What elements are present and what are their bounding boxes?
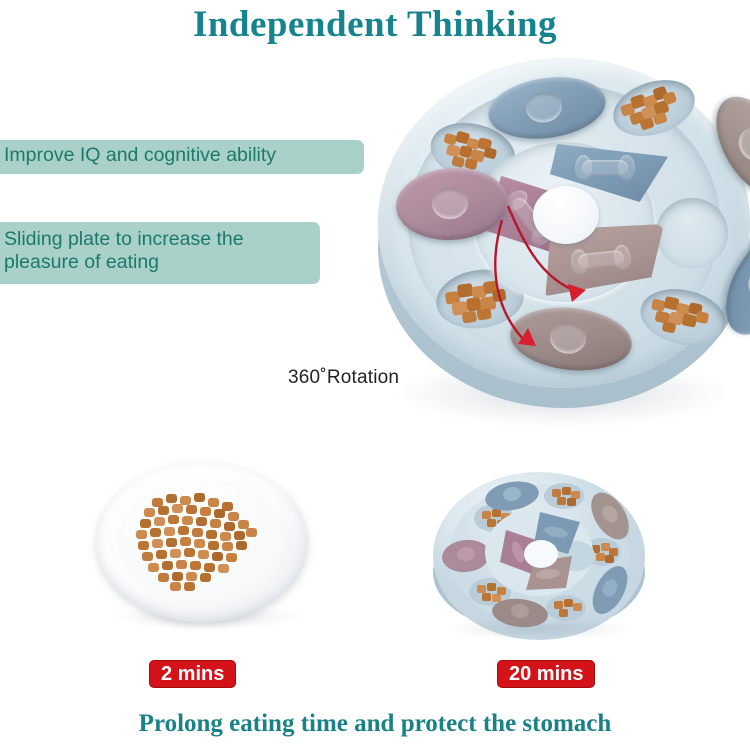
mini-feeder-shadow (444, 618, 634, 640)
main-product-feeder (378, 58, 750, 430)
rotation-arrows (378, 58, 750, 430)
page-title: Independent Thinking (0, 0, 750, 50)
feature-callout-improve-iq: Improve IQ and cognitive ability (0, 140, 364, 174)
feature-callout-sliding-plate: Sliding plate to increase the pleasure o… (0, 222, 320, 284)
product-marketing-image: Independent Thinking Improve IQ and cogn… (0, 0, 750, 750)
comparison-puzzle-feeder (424, 456, 654, 646)
footer-tagline: Prolong eating time and protect the stom… (0, 710, 750, 738)
badge-20-mins: 20 mins (497, 660, 595, 688)
badge-2-mins: 2 mins (149, 660, 236, 688)
comparison-plain-bowl (96, 462, 318, 640)
kibble-pile (124, 484, 280, 602)
